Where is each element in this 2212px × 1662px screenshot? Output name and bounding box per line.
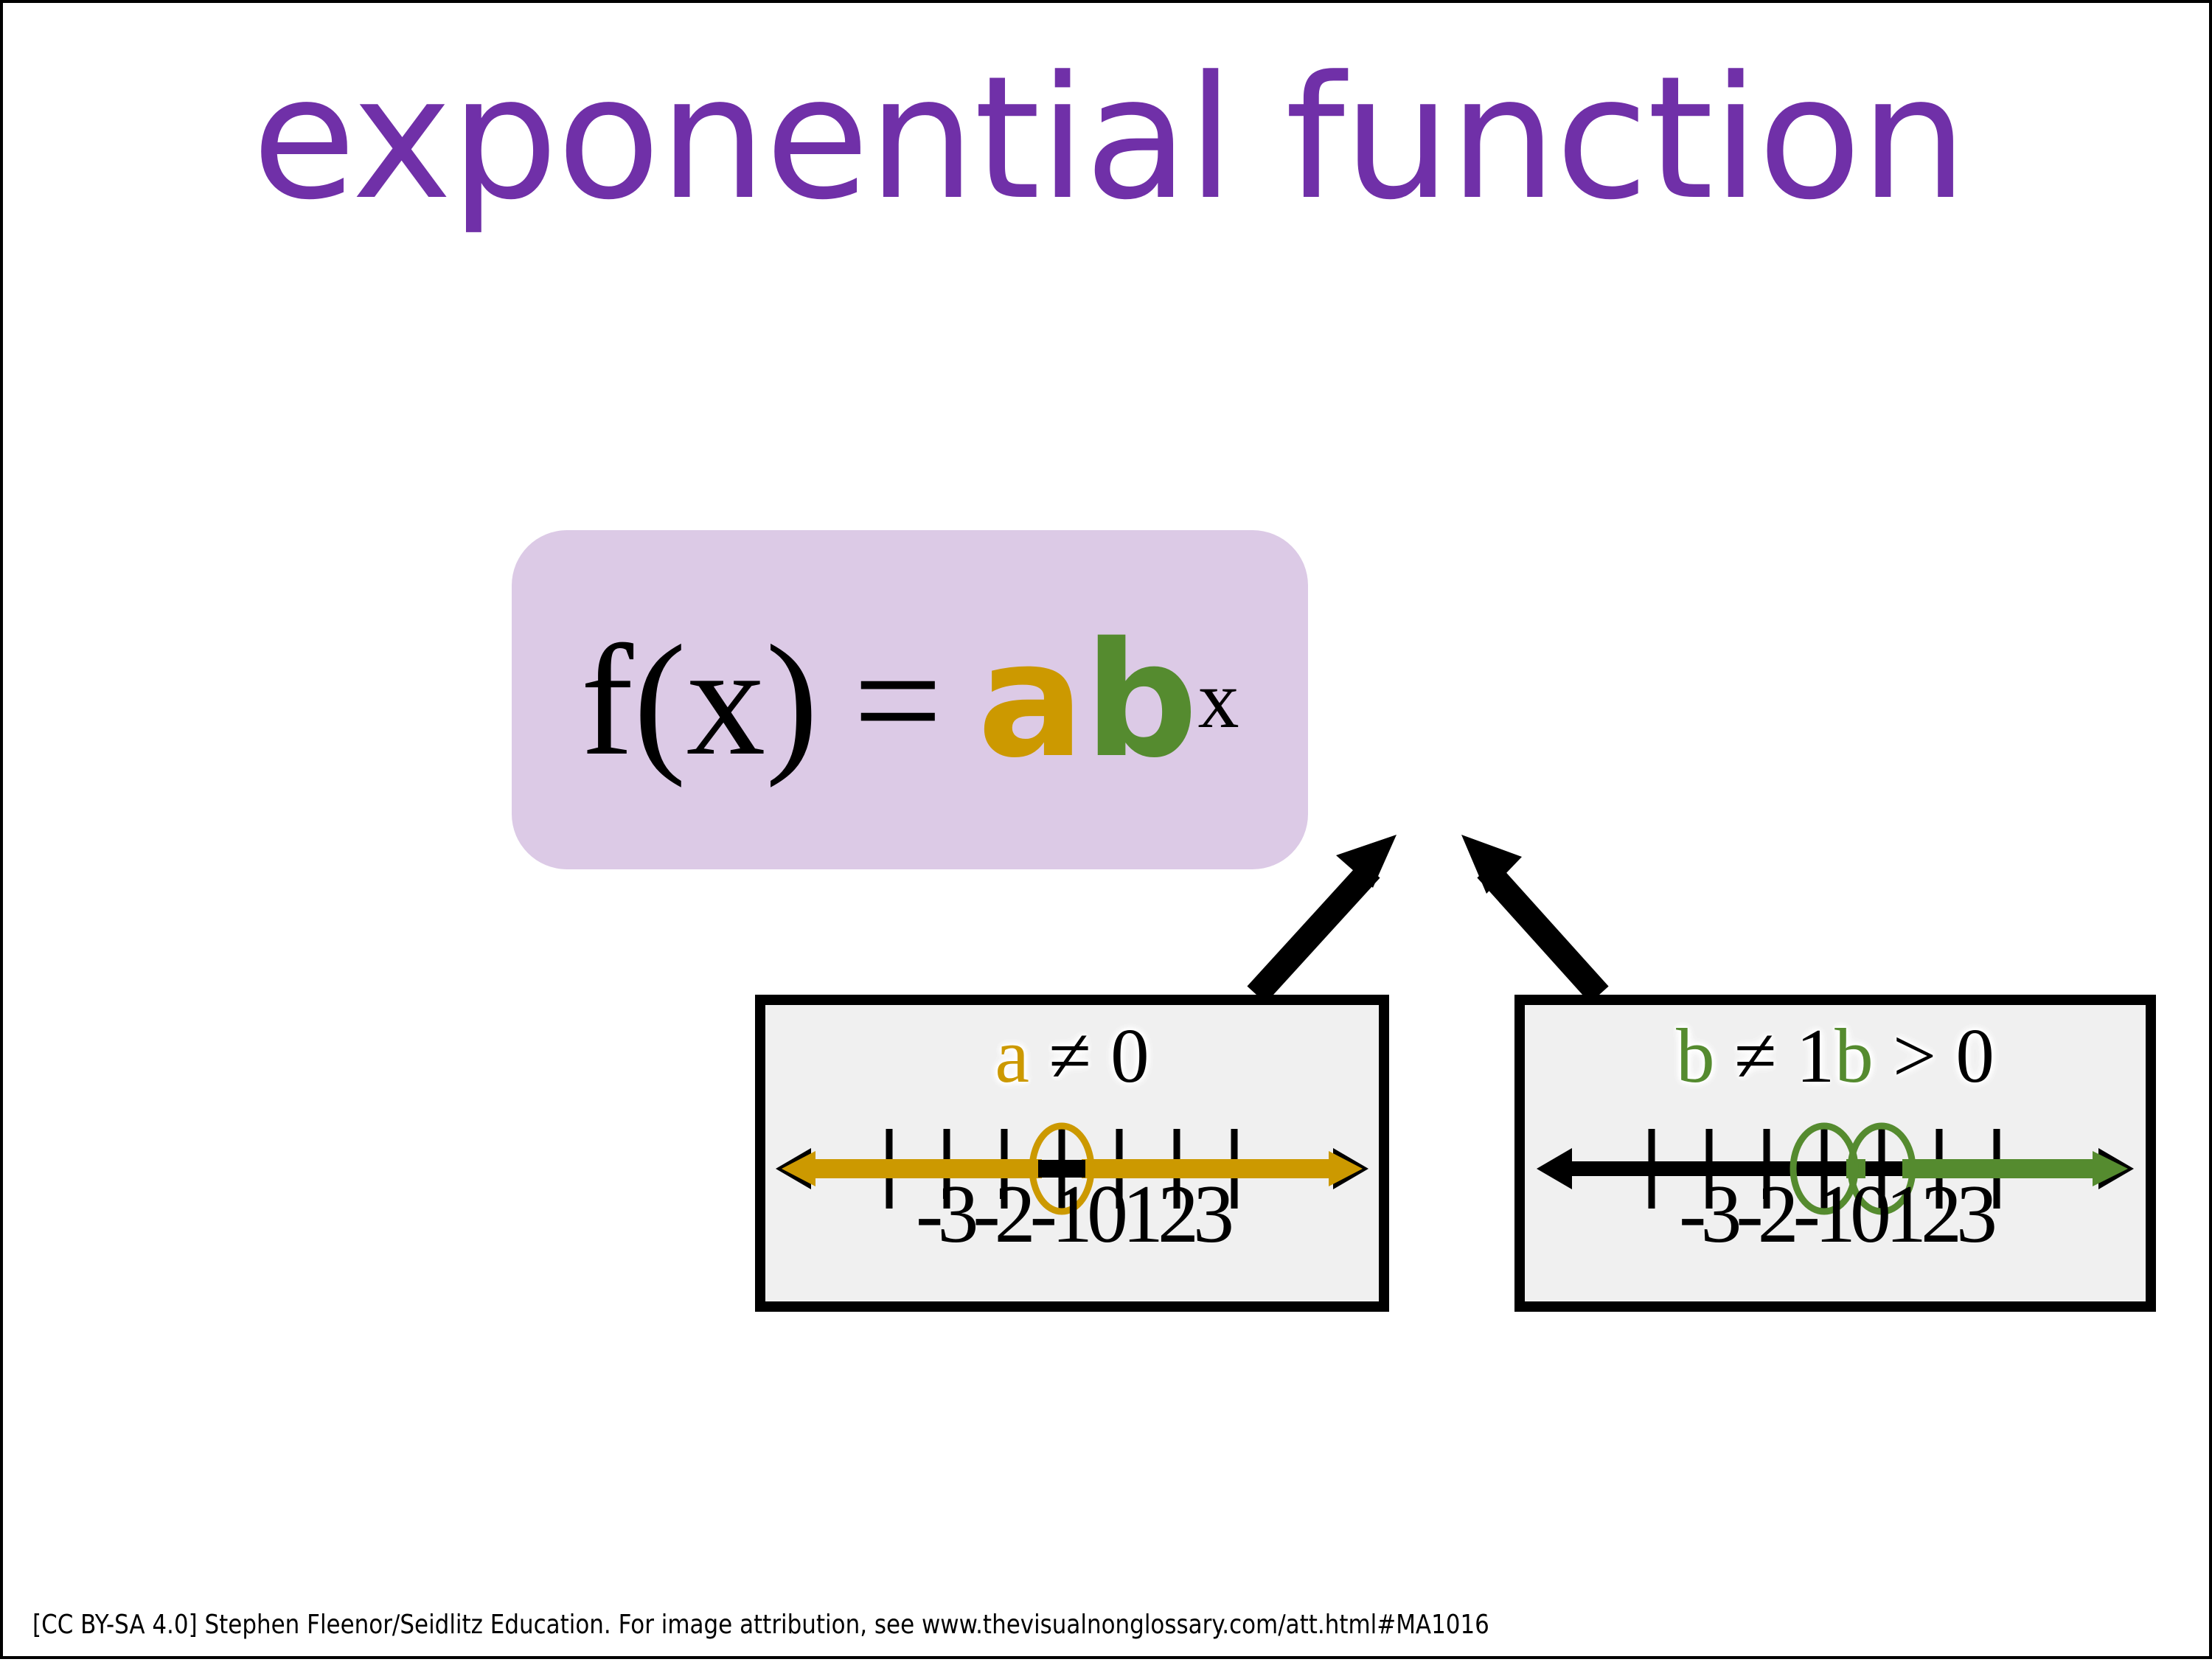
- formula-coefficient-a: a: [978, 621, 1085, 779]
- arrow-b-to-base: [1461, 835, 1599, 995]
- condition-box-a: a ≠ 0: [755, 995, 1389, 1312]
- condition-b-label: b ≠ 1b > 0: [1525, 1015, 2146, 1096]
- condition-b-relation-1: ≠ 1: [1734, 1012, 1834, 1099]
- condition-b-relation-2: > 0: [1893, 1012, 1994, 1099]
- formula-lhs: f(x): [580, 621, 818, 779]
- condition-a-label: a ≠ 0: [765, 1015, 1379, 1096]
- slide-canvas: exponential function f(x) = abx a ≠ 0: [0, 0, 2212, 1659]
- condition-a-relation: ≠ 0: [1048, 1012, 1149, 1099]
- formula-equals-sign: =: [853, 621, 942, 779]
- formula-expression: f(x) = abx: [512, 530, 1308, 869]
- condition-a-variable: a: [995, 1012, 1029, 1099]
- attribution-footer: [CC BY-SA 4.0] Stephen Fleenor/Seidlitz …: [32, 1610, 1489, 1640]
- condition-b-variable-2: b: [1834, 1012, 1874, 1099]
- condition-b-variable-1: b: [1676, 1012, 1715, 1099]
- condition-a-tick-labels: -3-2-10123: [765, 1173, 1379, 1256]
- condition-b-tick-labels: -3-2-10123: [1525, 1173, 2146, 1256]
- page-title: exponential function: [3, 55, 2212, 224]
- formula-container: f(x) = abx: [512, 530, 1308, 869]
- formula-base-b: b: [1085, 621, 1198, 779]
- condition-box-b: b ≠ 1b > 0: [1514, 995, 2156, 1312]
